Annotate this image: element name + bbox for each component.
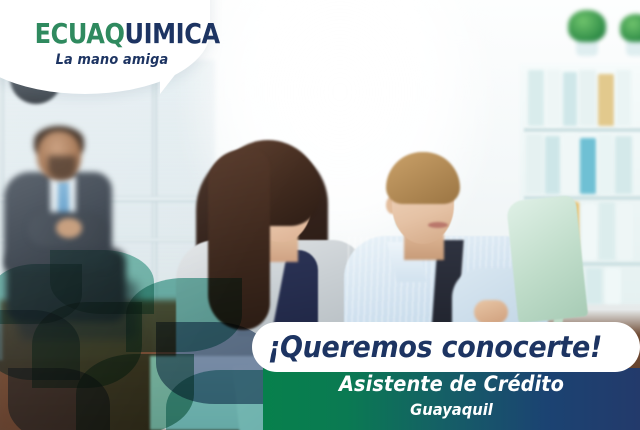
man-hand	[474, 300, 508, 324]
binder	[563, 72, 577, 126]
binder	[562, 134, 578, 194]
binder	[545, 136, 560, 194]
background-person-hand	[56, 218, 82, 238]
job-location: Guayaquil	[278, 400, 625, 419]
logo-wordmark-navy: UIMICA	[124, 17, 219, 50]
brand-logo[interactable]: ECUAQUIMICA La mano amiga	[22, 20, 202, 68]
potted-plant	[568, 10, 606, 42]
logo-wordmark: ECUAQUIMICA	[35, 20, 190, 48]
binder	[526, 134, 543, 194]
background-person-beard	[48, 156, 76, 180]
binder	[546, 70, 561, 126]
recruitment-banner: ECUAQUIMICA La mano amiga ¡Queremos cono…	[0, 0, 640, 430]
binder	[582, 204, 597, 260]
binder	[598, 74, 614, 126]
man-mouth	[428, 222, 448, 228]
binder	[598, 134, 613, 194]
computer-monitor	[506, 195, 588, 324]
shelf-divider	[524, 128, 640, 132]
logo-tagline: La mano amiga	[29, 52, 195, 68]
headline-text: ¡Queremos conocerte!	[265, 322, 605, 372]
binder	[586, 268, 602, 304]
binder	[605, 268, 621, 304]
binder	[615, 136, 632, 194]
potted-plant	[620, 14, 640, 42]
binder	[580, 138, 596, 194]
binder	[528, 70, 544, 126]
logo-wordmark-green: ECUAQ	[35, 17, 125, 50]
binder	[599, 202, 615, 260]
binder	[616, 70, 631, 126]
binder	[579, 70, 596, 126]
binder	[617, 204, 633, 260]
job-title: Asistente de Crédito	[278, 372, 625, 396]
